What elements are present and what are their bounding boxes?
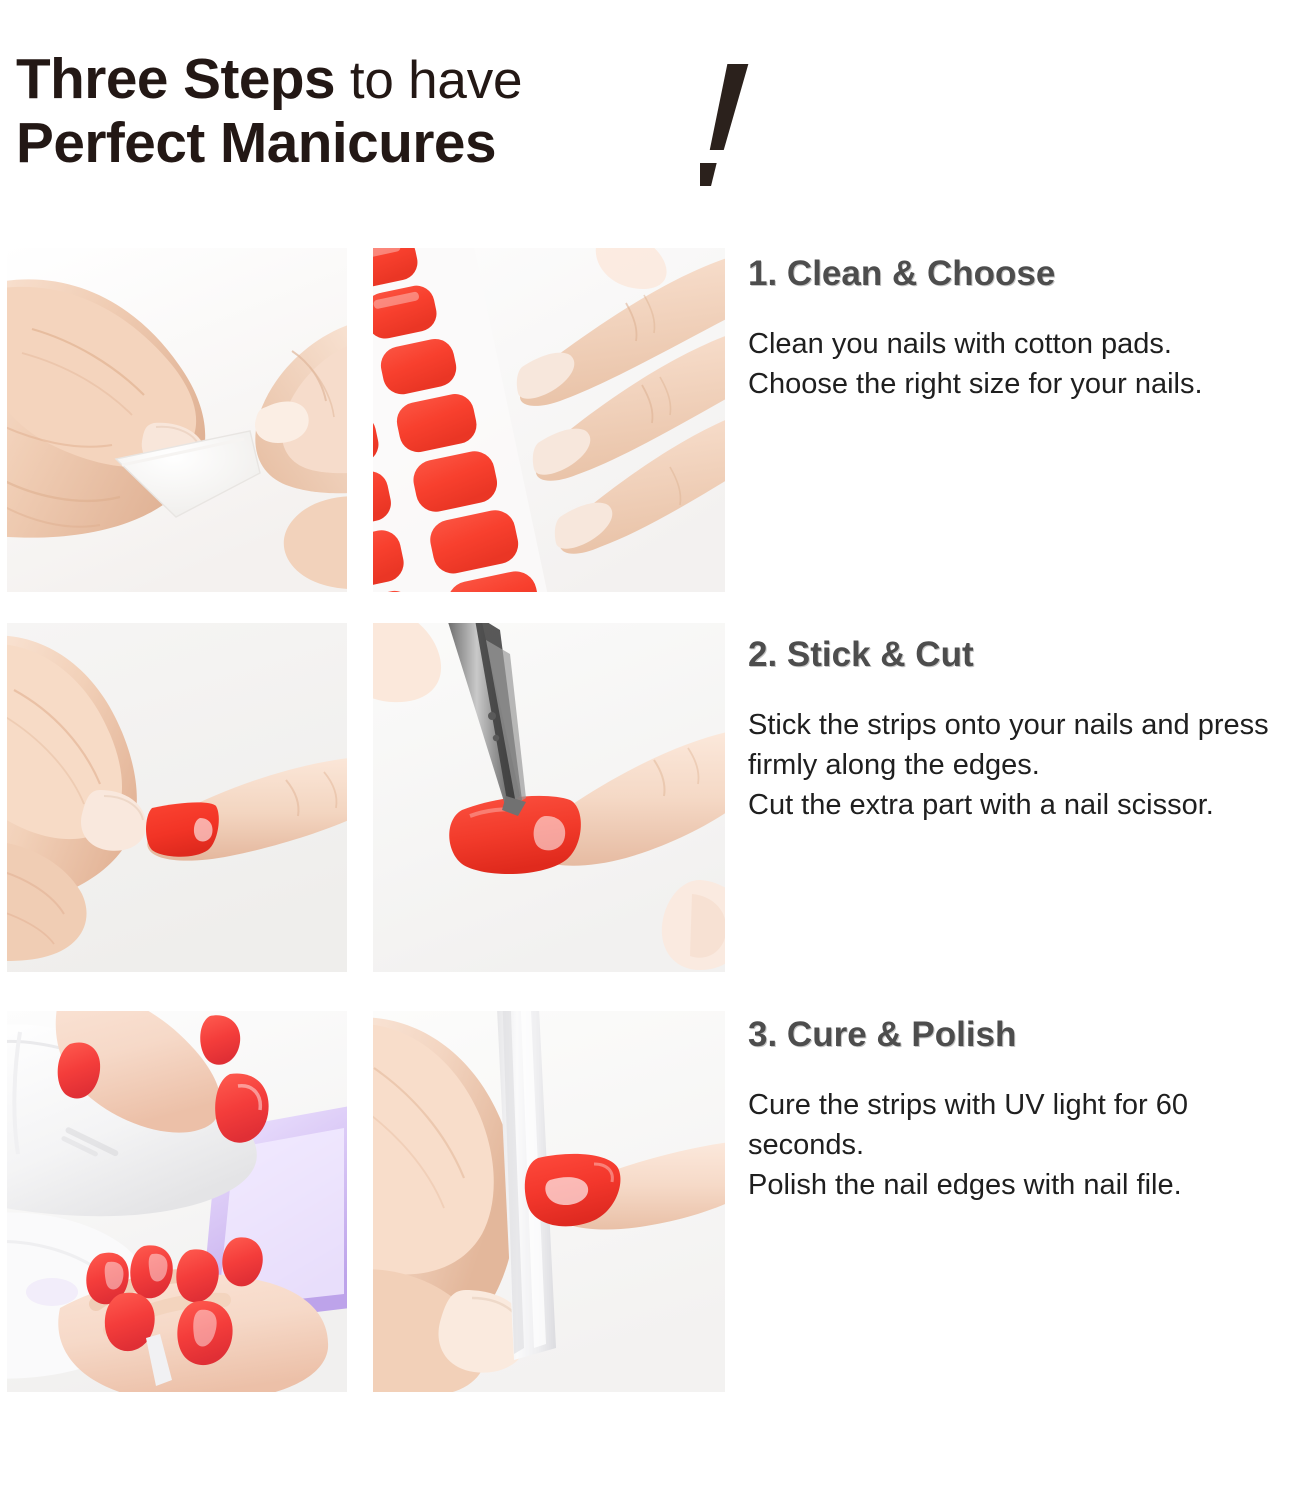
photo-cure-with-uv-lamp (4, 1008, 350, 1395)
photo-polish-edges-with-file (370, 1008, 728, 1395)
step-3-line-2: Polish the nail edges with nail file. (748, 1165, 1300, 1205)
scissor-pivot (493, 735, 499, 741)
step-1-block: 1. Clean & Choose Clean you nails with c… (748, 255, 1300, 404)
exclamation-stem (710, 64, 749, 150)
nail-gloss (534, 816, 566, 850)
photo-choose-strip-size (370, 245, 728, 595)
headline-to-have: to have (350, 51, 522, 110)
step-3-line-1: Cure the strips with UV light for 60 sec… (748, 1085, 1300, 1165)
step-2-title: 2. Stick & Cut (748, 636, 1300, 675)
step-2-line-2: Cut the extra part with a nail scissor. (748, 785, 1300, 825)
step-3-block: 3. Cure & Polish Cure the strips with UV… (748, 1016, 1300, 1205)
photo-stick-strip-on-nail (4, 620, 350, 975)
step-3-body: Cure the strips with UV light for 60 sec… (748, 1085, 1300, 1205)
headline-perfect-manicures: Perfect Manicures (16, 112, 496, 175)
scissor-pivot (488, 712, 496, 720)
headline-three-steps: Three Steps (16, 48, 335, 111)
step-1-body: Clean you nails with cotton pads. Choose… (748, 324, 1300, 404)
uv-light-leak (26, 1278, 78, 1306)
step-1-line-2: Choose the right size for your nails. (748, 364, 1300, 404)
exclamation-dot (700, 163, 717, 186)
step-2-body: Stick the strips onto your nails and pre… (748, 705, 1300, 825)
headline-line-1: Three Steps to have (16, 52, 796, 108)
page-title: Three Steps to have Perfect Manicures (16, 52, 796, 202)
exclamation-mark-icon (700, 60, 770, 190)
step-2-line-1: Stick the strips onto your nails and pre… (748, 705, 1300, 785)
step-2-block: 2. Stick & Cut Stick the strips onto you… (748, 636, 1300, 825)
step-1-title: 1. Clean & Choose (748, 255, 1300, 294)
photo-clean-nail-with-cotton-pad (4, 245, 350, 595)
headline-line-2: Perfect Manicures (16, 116, 796, 172)
step-1-line-1: Clean you nails with cotton pads. (748, 324, 1300, 364)
photo-cut-extra-with-scissor (370, 620, 728, 975)
step-3-title: 3. Cure & Polish (748, 1016, 1300, 1055)
